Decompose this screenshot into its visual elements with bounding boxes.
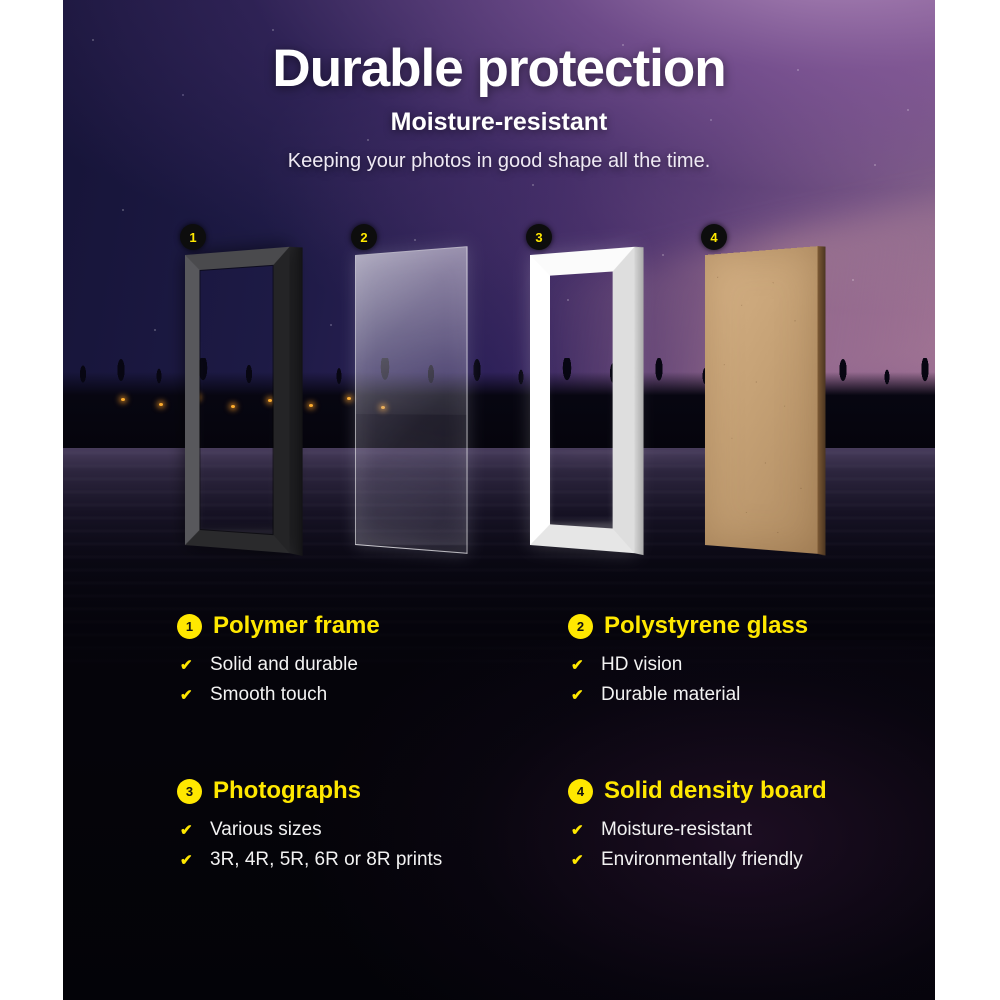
feature-block-1: 1 Polymer frame ✔ Solid and durable ✔ Sm… <box>177 612 577 714</box>
feature-badge-3: 3 <box>177 779 202 804</box>
check-icon: ✔ <box>571 686 589 704</box>
exploded-product-layers: 1 2 3 4 <box>63 0 935 620</box>
feature-title-3: Photographs <box>213 777 361 805</box>
feature-heading: 3 Photographs <box>177 777 577 805</box>
layer-polymer-frame <box>185 255 295 545</box>
feature-badge-1: 1 <box>177 614 202 639</box>
feature-title-4: Solid density board <box>604 777 827 805</box>
feature-heading: 1 Polymer frame <box>177 612 577 640</box>
check-icon: ✔ <box>180 851 198 869</box>
feature-item: ✔ Solid and durable <box>180 654 577 676</box>
feature-item: ✔ Durable material <box>571 684 968 706</box>
layer-photographs <box>530 255 640 545</box>
feature-item-label: Smooth touch <box>210 684 327 706</box>
feature-heading: 2 Polystyrene glass <box>568 612 968 640</box>
feature-item-label: Various sizes <box>210 819 322 841</box>
feature-item-label: Moisture-resistant <box>601 819 752 841</box>
feature-block-2: 2 Polystyrene glass ✔ HD vision ✔ Durabl… <box>568 612 968 714</box>
feature-title-2: Polystyrene glass <box>604 612 808 640</box>
feature-badge-4: 4 <box>568 779 593 804</box>
feature-item: ✔ Smooth touch <box>180 684 577 706</box>
layer-badge-2: 2 <box>351 224 377 250</box>
check-icon: ✔ <box>571 656 589 674</box>
check-icon: ✔ <box>180 656 198 674</box>
feature-title-1: Polymer frame <box>213 612 380 640</box>
feature-item: ✔ Moisture-resistant <box>571 819 968 841</box>
feature-block-4: 4 Solid density board ✔ Moisture-resista… <box>568 777 968 879</box>
feature-badge-2: 2 <box>568 614 593 639</box>
layer-badge-4: 4 <box>701 224 727 250</box>
feature-item-label: 3R, 4R, 5R, 6R or 8R prints <box>210 849 442 871</box>
feature-item: ✔ HD vision <box>571 654 968 676</box>
layer-badge-3: 3 <box>526 224 552 250</box>
check-icon: ✔ <box>571 821 589 839</box>
feature-block-3: 3 Photographs ✔ Various sizes ✔ 3R, 4R, … <box>177 777 577 879</box>
feature-item-label: HD vision <box>601 654 682 676</box>
feature-list: 1 Polymer frame ✔ Solid and durable ✔ Sm… <box>63 612 935 932</box>
feature-item: ✔ Environmentally friendly <box>571 849 968 871</box>
layer-solid-density-board <box>705 255 823 545</box>
check-icon: ✔ <box>571 851 589 869</box>
infographic-page: Durable protection Moisture-resistant Ke… <box>0 0 1000 1000</box>
check-icon: ✔ <box>180 686 198 704</box>
check-icon: ✔ <box>180 821 198 839</box>
feature-item-label: Environmentally friendly <box>601 849 803 871</box>
feature-heading: 4 Solid density board <box>568 777 968 805</box>
feature-item-label: Solid and durable <box>210 654 358 676</box>
feature-item-label: Durable material <box>601 684 740 706</box>
feature-item: ✔ Various sizes <box>180 819 577 841</box>
layer-polystyrene-glass <box>355 255 473 545</box>
layer-badge-1: 1 <box>180 224 206 250</box>
feature-item: ✔ 3R, 4R, 5R, 6R or 8R prints <box>180 849 577 871</box>
